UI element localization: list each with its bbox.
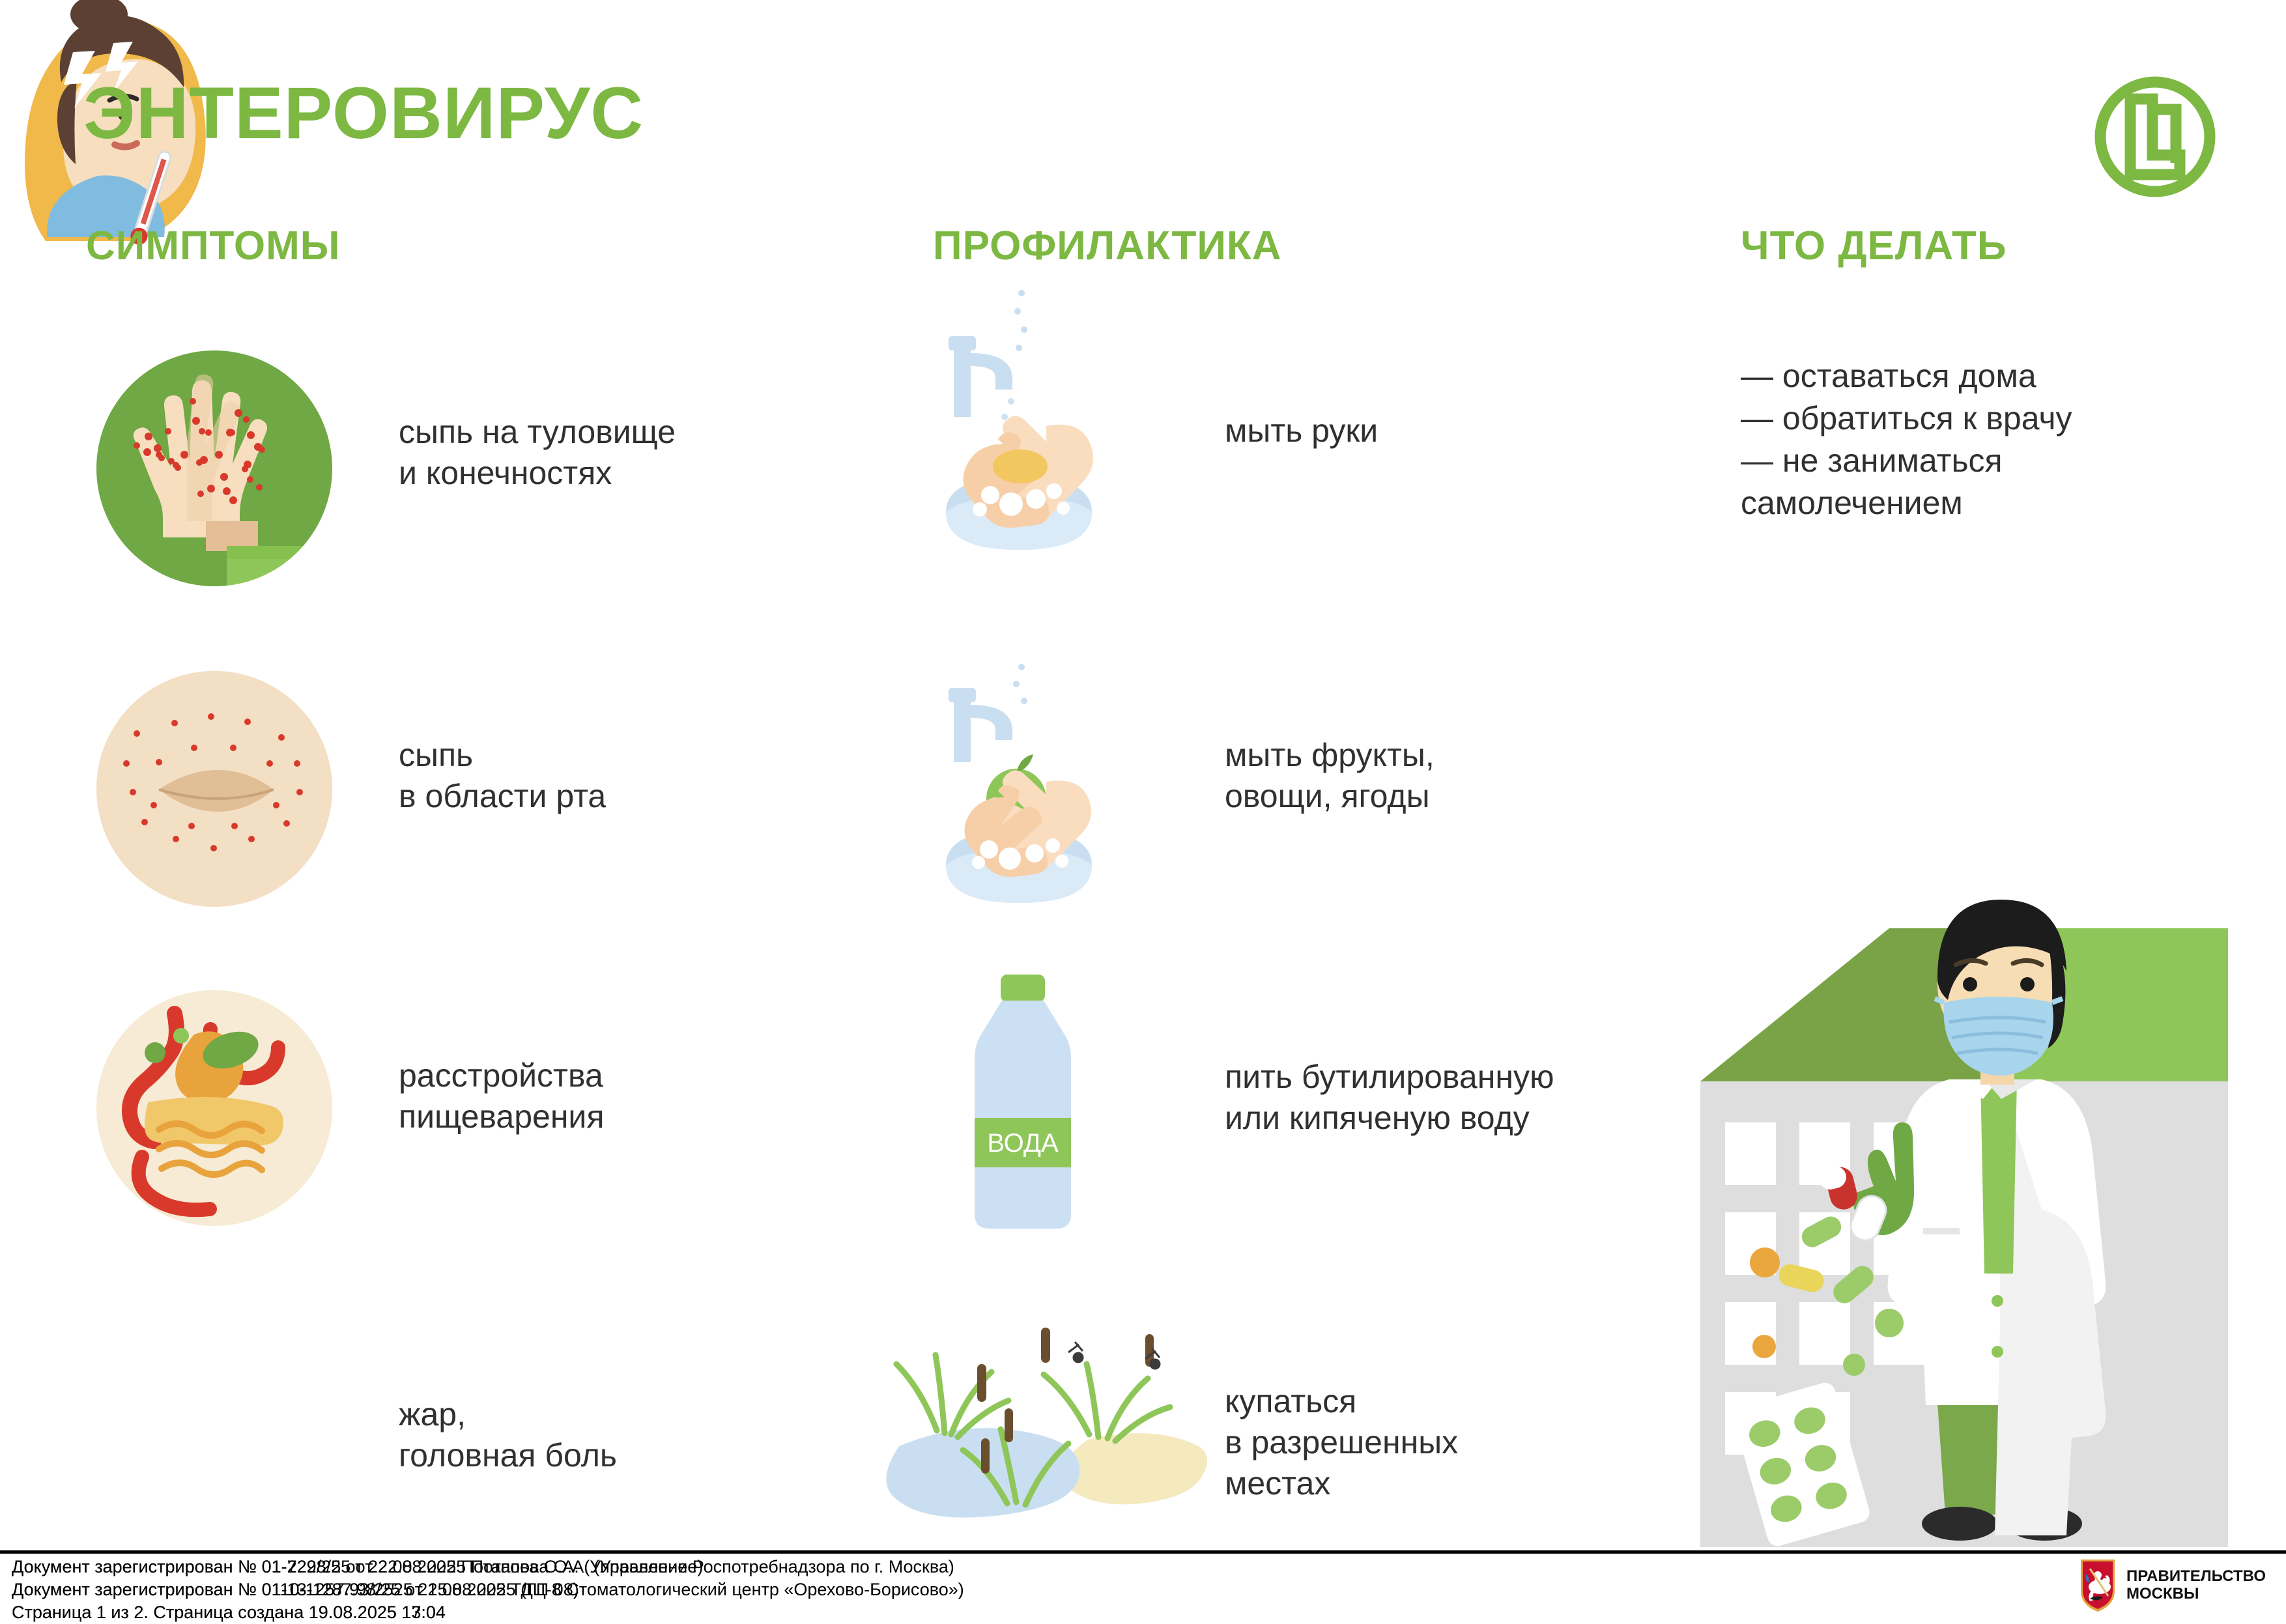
symptom-label: жар, головная боль xyxy=(399,1394,617,1476)
doctor-in-front-of-house-illustration xyxy=(1694,622,2235,1547)
washing-hands-icon xyxy=(912,280,1134,583)
symptom-label: сыпь в области рта xyxy=(399,735,606,817)
symptom-label: расстройства пищеварения xyxy=(399,1055,604,1137)
poster-canvas: ЭНТЕРОВИРУС СИМПТОМЫ ПРОФИЛАКТИКА ЧТО ДЕ… xyxy=(0,0,2286,1616)
moscow-coat-of-arms-icon xyxy=(2078,1558,2117,1613)
washing-fruit-icon xyxy=(912,658,1134,935)
prevention-header: ПРОФИЛАКТИКА xyxy=(933,223,1282,269)
prevention-label: купаться в разрешенных местах xyxy=(1225,1381,1458,1504)
digestive-organs-icon xyxy=(96,990,332,1226)
todo-item: самолечением xyxy=(1741,482,2072,524)
pond-with-reeds-icon xyxy=(853,1316,1218,1534)
todo-header: ЧТО ДЕЛАТЬ xyxy=(1741,223,2007,269)
tsg-circle-monogram-logo xyxy=(2090,72,2220,202)
registration-stamp-b: Документ зарегистрирован № 01-2298/25 от… xyxy=(12,1556,964,1624)
mouth-with-rash-icon xyxy=(96,671,332,907)
todo-item: — оставаться дома xyxy=(1741,355,2072,397)
moscow-government-logo: ПРАВИТЕЛЬСТВО МОСКВЫ xyxy=(2078,1557,2274,1614)
page-title: ЭНТЕРОВИРУС xyxy=(83,77,644,150)
gov-text: ПРАВИТЕЛЬСТВО МОСКВЫ xyxy=(2126,1568,2266,1603)
hand-with-rash-icon xyxy=(96,350,332,586)
symptom-label: сыпь на туловище и конечностях xyxy=(399,412,676,494)
prevention-label: мыть руки xyxy=(1225,410,1378,451)
todo-item: — обратиться к врачу xyxy=(1741,397,2072,440)
prevention-label: мыть фрукты, овощи, ягоды xyxy=(1225,735,1435,817)
water-bottle-icon: ВОДА xyxy=(937,971,1106,1234)
todo-item: — не заниматься xyxy=(1741,440,2072,482)
prevention-label: пить бутилированную или кипяченую воду xyxy=(1225,1057,1554,1139)
bottle-label: ВОДА xyxy=(987,1129,1059,1158)
footer-divider xyxy=(0,1550,2286,1554)
symptoms-header: СИМПТОМЫ xyxy=(86,223,340,269)
todo-list: — оставаться дома — обратиться к врачу —… xyxy=(1741,355,2072,524)
